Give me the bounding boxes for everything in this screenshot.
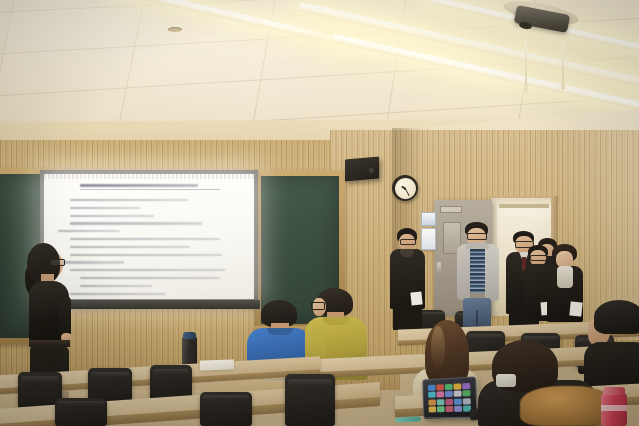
glasses-icon — [50, 259, 65, 266]
slide-title-line — [80, 184, 198, 187]
thermos-lid — [603, 387, 625, 395]
tablet-app-icon[interactable] — [437, 399, 445, 405]
collar — [267, 328, 293, 335]
tablet-app-icon[interactable] — [445, 406, 453, 412]
wall-notice — [421, 212, 436, 226]
speaker-cone — [369, 168, 374, 173]
screen-top-edge — [44, 174, 254, 179]
seated-student-fur-collar — [478, 340, 598, 426]
tablet-app-icon[interactable] — [437, 406, 445, 412]
tablet-app-icon[interactable] — [453, 383, 461, 390]
slide-text-line — [58, 230, 120, 232]
chair[interactable] — [285, 374, 335, 426]
pull-cord-tip[interactable] — [561, 82, 565, 90]
tablet-app-icon[interactable] — [445, 384, 453, 390]
chair-highlight — [203, 395, 249, 400]
tablet-app-icon[interactable] — [428, 385, 435, 391]
chair-highlight — [21, 376, 60, 382]
hair-highlight — [431, 326, 445, 370]
tablet-app-icon[interactable] — [436, 384, 444, 390]
slide-text-line — [70, 238, 220, 240]
tablet-app-icon[interactable] — [454, 406, 462, 412]
tablet-app-icon[interactable] — [462, 383, 470, 390]
thermos-band — [601, 405, 627, 411]
glasses-icon — [400, 239, 416, 245]
tablet-app-icon[interactable] — [454, 398, 462, 404]
tablet-app-icon[interactable] — [445, 398, 453, 404]
door-sign — [440, 206, 462, 213]
tablet-app-icon[interactable] — [428, 392, 435, 398]
slide-text-line — [70, 254, 222, 256]
door-transom — [499, 204, 549, 208]
face-mask — [496, 374, 516, 387]
chair-highlight — [58, 401, 104, 405]
scarf — [557, 266, 573, 288]
slide-text-line — [80, 277, 220, 279]
tablet-app-icon[interactable] — [445, 391, 453, 397]
door-handle[interactable] — [437, 262, 441, 274]
thermos-lid — [183, 332, 196, 339]
paper-sheet — [410, 291, 422, 305]
pen[interactable] — [395, 416, 421, 422]
glasses-icon — [467, 233, 487, 240]
slide-title-underline — [80, 189, 220, 190]
chair-highlight — [153, 369, 190, 374]
ceiling-vent-icon — [168, 27, 182, 32]
slide-text-line — [80, 285, 152, 287]
paper-sheet — [569, 301, 582, 316]
slide-text-line — [70, 207, 140, 209]
tablet-app-icon[interactable] — [463, 398, 471, 404]
collar — [323, 317, 349, 325]
classroom-photo — [0, 0, 639, 426]
fur-collar — [520, 386, 612, 426]
chair-highlight — [91, 372, 130, 377]
glasses-icon — [530, 255, 547, 261]
slide-text-line — [70, 199, 188, 201]
slide-text-line — [70, 222, 202, 224]
chair[interactable] — [200, 392, 252, 426]
papers-on-desk — [200, 359, 234, 370]
pull-cord[interactable] — [525, 40, 527, 88]
chair[interactable] — [55, 398, 107, 426]
slide-text-line — [70, 215, 154, 217]
tablet-app-grid[interactable] — [428, 383, 471, 413]
slide-text-lines — [58, 199, 242, 299]
glasses-icon — [311, 302, 325, 310]
slide-text-line — [70, 293, 166, 295]
tablet-app-icon[interactable] — [428, 399, 435, 405]
slide-content — [58, 184, 242, 299]
hood — [594, 300, 639, 334]
jacket-collar — [466, 242, 489, 249]
tablet-app-icon[interactable] — [429, 406, 436, 412]
tablet-app-icon[interactable] — [436, 392, 444, 398]
jacket-left-panel — [457, 244, 470, 300]
chair-highlight — [288, 379, 332, 386]
pull-cord[interactable] — [562, 44, 564, 84]
slide-text-line — [70, 269, 226, 271]
pull-cord-tip[interactable] — [524, 86, 528, 94]
standing-person-black-jacket — [389, 228, 427, 328]
tablet-app-icon[interactable] — [463, 390, 471, 397]
slide-text-line — [70, 246, 190, 248]
tablet-app-icon[interactable] — [454, 391, 462, 397]
jacket-right-panel — [485, 244, 499, 301]
